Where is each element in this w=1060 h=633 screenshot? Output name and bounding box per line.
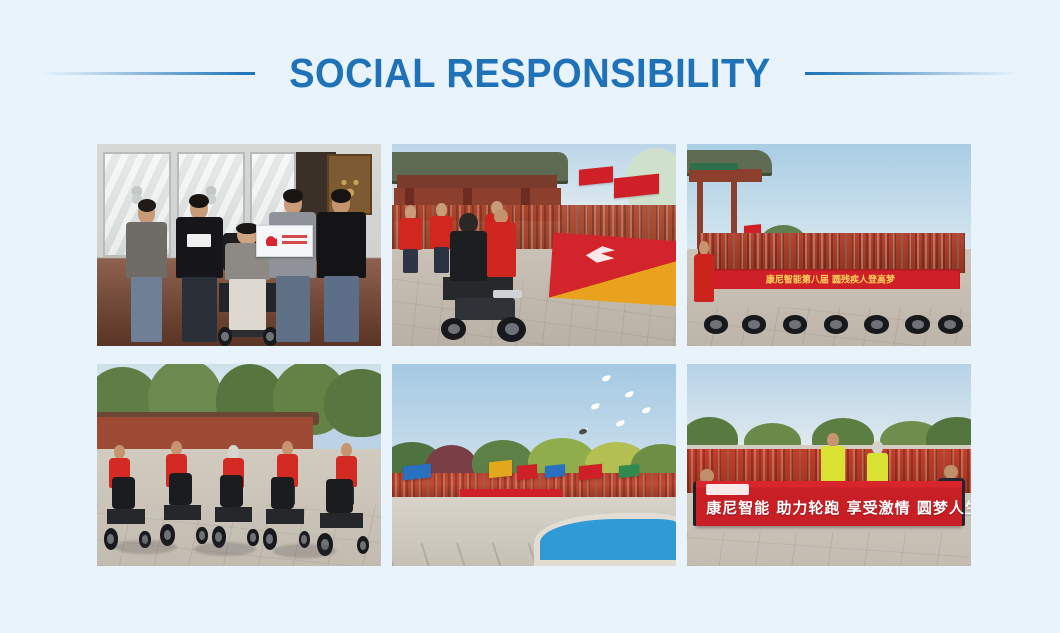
wheelchair-wheel — [263, 528, 277, 550]
volunteer-red-vest — [399, 218, 421, 250]
gallery-photo-5[interactable]: Wide shot of a very large crowd assemble… — [392, 364, 676, 566]
paving-pattern — [687, 532, 971, 566]
wheelchair-backrest — [169, 473, 193, 505]
gallery-photo-2[interactable]: Outdoor charity event at a traditional C… — [392, 144, 676, 346]
wheelchair-seat — [107, 509, 145, 524]
person-legs — [276, 276, 311, 342]
photo-5-scene — [392, 364, 676, 566]
photo-3-scene: 康尼智能第八届 圆残疾人登高梦 — [687, 144, 971, 346]
blue-flag — [545, 464, 565, 478]
certificate-text — [282, 235, 307, 245]
event-banner: 康尼智能 助力轮跑 享受激情 圆梦人生 — [696, 481, 963, 525]
electric-wheelchair — [159, 473, 210, 546]
wheelchair-seat — [266, 509, 304, 524]
person-legs — [403, 249, 418, 274]
person-legs — [229, 279, 266, 329]
person-hair — [138, 199, 156, 212]
page-title: SOCIAL RESPONSIBILITY — [289, 53, 771, 94]
wheelchair-wheel — [905, 315, 930, 333]
wheelchair-seat — [215, 507, 253, 522]
wheelchair-wheel — [742, 315, 767, 333]
wheelchair-wheel — [864, 315, 889, 333]
electric-wheelchair — [103, 477, 154, 550]
person-figure — [123, 201, 171, 342]
wheelchair-wheel — [357, 536, 369, 554]
gallery-photo-4[interactable]: A row of black electric wheelchairs line… — [97, 364, 381, 566]
person-head — [944, 465, 958, 479]
wheelchair-backrest — [326, 479, 353, 513]
volunteer-red-vest — [487, 222, 516, 277]
wheelchair-wheel — [441, 318, 466, 340]
event-banner-text: 康尼智能第八届 圆残疾人登高梦 — [701, 273, 959, 286]
wheelchair-backrest — [271, 477, 295, 509]
wheelchair-wheel — [938, 315, 963, 333]
person-torso — [450, 231, 487, 282]
wheelchair-wheel — [704, 315, 729, 333]
person-head — [827, 433, 839, 448]
red-flag — [579, 464, 602, 481]
volunteer-figure — [486, 209, 517, 278]
pavilion-plaque — [690, 163, 738, 170]
event-banner-text: 康尼智能 助力轮跑 享受激情 圆梦人生 — [706, 497, 952, 518]
wheelchair-seat — [320, 513, 363, 528]
red-flag — [517, 464, 537, 480]
green-flag — [619, 464, 639, 478]
donation-certificate-card — [256, 225, 313, 257]
gallery-photo-1[interactable]: Indoor donation ceremony: four adults st… — [97, 144, 381, 346]
swimming-pool — [534, 513, 676, 566]
wheelchair-row — [693, 285, 966, 333]
wheelchair-backrest — [220, 475, 244, 507]
cast-shadow — [194, 542, 256, 556]
volunteer-figure — [693, 241, 716, 302]
wheelchair-wheel — [196, 527, 207, 544]
photo-6-scene: 康尼智能 助力轮跑 享受激情 圆梦人生 — [687, 364, 971, 566]
gallery-photo-6[interactable]: 康尼智能 助力轮跑 享受激情 圆梦人生 Group of participant… — [687, 364, 971, 566]
page-header: SOCIAL RESPONSIBILITY — [0, 45, 1060, 101]
wheelchair-footplate — [493, 290, 522, 299]
wheelchair-wheel — [497, 317, 526, 342]
volunteer-figure — [398, 205, 424, 274]
cast-shadow — [114, 540, 176, 554]
tshirt-print — [187, 234, 212, 247]
tree — [324, 369, 381, 437]
person-figure — [316, 192, 367, 341]
wheelchair-wheel — [824, 315, 849, 333]
person-head — [341, 443, 352, 457]
person-hair — [283, 189, 303, 202]
photo-gallery: Indoor donation ceremony: four adults st… — [97, 144, 971, 566]
wheelchair-backrest — [112, 477, 136, 509]
event-flag — [549, 232, 676, 306]
volunteer-red-vest — [694, 254, 715, 301]
person-legs — [182, 277, 217, 342]
person-figure — [267, 192, 318, 341]
cast-shadow — [273, 544, 335, 558]
person-torso — [317, 212, 366, 278]
wheelchair-wheel — [783, 315, 808, 333]
photo-1-scene — [97, 144, 381, 346]
person-torso — [126, 222, 167, 279]
yellow-flag — [489, 460, 512, 479]
person-legs — [131, 277, 162, 342]
electric-wheelchair — [316, 479, 373, 556]
person-legs — [324, 276, 359, 342]
wheelchair-rider — [449, 213, 489, 282]
company-logo-icon — [706, 484, 749, 496]
electric-wheelchair — [211, 475, 262, 548]
person-head — [872, 441, 883, 455]
gallery-photo-3[interactable]: 康尼智能第八届 圆残疾人登高梦 Large group photo in fro… — [687, 144, 971, 346]
photo-4-scene — [97, 364, 381, 566]
photo-2-scene — [392, 144, 676, 346]
wheelchair-seat — [164, 505, 202, 520]
crowd-texture — [698, 233, 965, 273]
decorative-rule-left-icon — [40, 72, 255, 75]
heart-icon — [266, 236, 277, 246]
electric-wheelchair — [262, 477, 313, 550]
decorative-rule-right-icon — [805, 72, 1020, 75]
